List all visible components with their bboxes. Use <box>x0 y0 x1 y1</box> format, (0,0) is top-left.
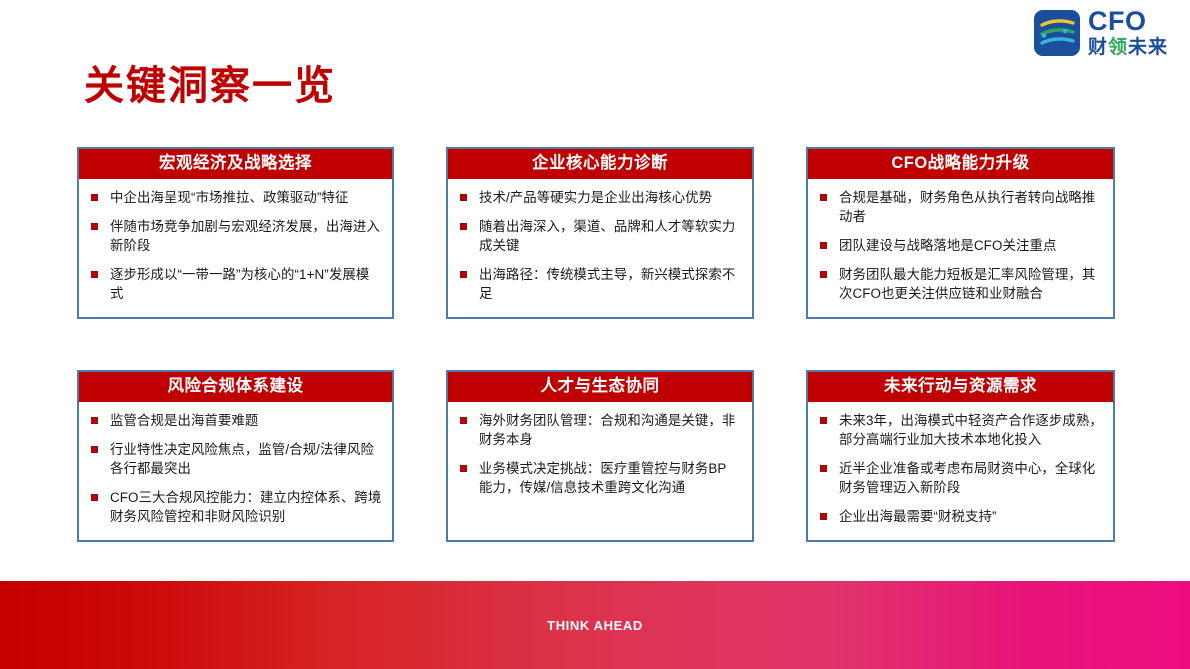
card-title: 宏观经济及战略选择 <box>79 149 392 179</box>
square-bullet-icon <box>460 271 467 278</box>
list-item: CFO三大合规风控能力：建立内控体系、跨境财务风险管控和非财风险识别 <box>88 488 382 526</box>
card-title: 人才与生态协同 <box>448 372 752 402</box>
square-bullet-icon <box>820 242 827 249</box>
square-bullet-icon <box>91 223 98 230</box>
logo-brand-text: CFO <box>1088 8 1168 35</box>
list-item-text: 出海路径：传统模式主导，新兴模式探索不足 <box>479 267 735 301</box>
logo-mark-icon <box>1034 10 1080 56</box>
list-item: 技术/产品等硬实力是企业出海核心优势 <box>457 188 742 207</box>
square-bullet-icon <box>820 465 827 472</box>
bullet-list: 海外财务团队管理：合规和沟通是关键，非财务本身 业务模式决定挑战：医疗重管控与财… <box>457 411 742 497</box>
list-item: 监管合规是出海首要难题 <box>88 411 382 430</box>
list-item: 中企出海呈现“市场推拉、政策驱动”特征 <box>88 188 382 207</box>
list-item-text: 团队建设与战略落地是CFO关注重点 <box>839 238 1056 253</box>
list-item: 财务团队最大能力短板是汇率风险管理，其次CFO也更关注供应链和业财融合 <box>817 265 1103 303</box>
list-item-text: 随着出海深入，渠道、品牌和人才等软实力成关键 <box>479 219 735 253</box>
card-body: 监管合规是出海首要难题 行业特性决定风险焦点，监管/合规/法律风险各行都最突出 … <box>79 402 392 540</box>
list-item: 伴随市场竞争加剧与宏观经济发展，出海进入新阶段 <box>88 217 382 255</box>
list-item-text: 逐步形成以“一带一路”为核心的“1+N”发展模式 <box>110 267 369 301</box>
square-bullet-icon <box>91 417 98 424</box>
card-title: 风险合规体系建设 <box>79 372 392 402</box>
square-bullet-icon <box>820 513 827 520</box>
logo-tagline-part-2: 领 <box>1108 37 1128 58</box>
list-item-text: 中企出海呈现“市场推拉、政策驱动”特征 <box>110 190 348 205</box>
page-title: 关键洞察一览 <box>84 64 336 108</box>
square-bullet-icon <box>820 271 827 278</box>
card-body: 合规是基础，财务角色从执行者转向战略推动者 团队建设与战略落地是CFO关注重点 … <box>808 179 1113 317</box>
square-bullet-icon <box>460 465 467 472</box>
list-item-text: 行业特性决定风险焦点，监管/合规/法律风险各行都最突出 <box>110 442 374 476</box>
list-item: 随着出海深入，渠道、品牌和人才等软实力成关键 <box>457 217 742 255</box>
bullet-list: 监管合规是出海首要难题 行业特性决定风险焦点，监管/合规/法律风险各行都最突出 … <box>88 411 382 526</box>
list-item-text: 未来3年，出海模式中轻资产合作逐步成熟，部分高端行业加大技术本地化投入 <box>839 413 1103 447</box>
card-title: 未来行动与资源需求 <box>808 372 1113 402</box>
insight-card: 风险合规体系建设 监管合规是出海首要难题 行业特性决定风险焦点，监管/合规/法律… <box>77 370 394 542</box>
insight-card: 未来行动与资源需求 未来3年，出海模式中轻资产合作逐步成熟，部分高端行业加大技术… <box>806 370 1115 542</box>
insight-card: 人才与生态协同 海外财务团队管理：合规和沟通是关键，非财务本身 业务模式决定挑战… <box>446 370 754 542</box>
list-item: 企业出海最需要“财税支持” <box>817 507 1103 526</box>
square-bullet-icon <box>460 417 467 424</box>
insight-card: 宏观经济及战略选择 中企出海呈现“市场推拉、政策驱动”特征 伴随市场竞争加剧与宏… <box>77 147 394 319</box>
list-item-text: 合规是基础，财务角色从执行者转向战略推动者 <box>839 190 1095 224</box>
list-item: 行业特性决定风险焦点，监管/合规/法律风险各行都最突出 <box>88 440 382 478</box>
list-item-text: 技术/产品等硬实力是企业出海核心优势 <box>479 190 712 205</box>
square-bullet-icon <box>820 194 827 201</box>
list-item-text: 伴随市场竞争加剧与宏观经济发展，出海进入新阶段 <box>110 219 380 253</box>
insight-card: 企业核心能力诊断 技术/产品等硬实力是企业出海核心优势 随着出海深入，渠道、品牌… <box>446 147 754 319</box>
square-bullet-icon <box>91 271 98 278</box>
list-item-text: 业务模式决定挑战：医疗重管控与财务BP 能力，传媒/信息技术重跨文化沟通 <box>479 461 726 495</box>
square-bullet-icon <box>820 417 827 424</box>
list-item: 业务模式决定挑战：医疗重管控与财务BP 能力，传媒/信息技术重跨文化沟通 <box>457 459 742 497</box>
list-item: 逐步形成以“一带一路”为核心的“1+N”发展模式 <box>88 265 382 303</box>
bullet-list: 技术/产品等硬实力是企业出海核心优势 随着出海深入，渠道、品牌和人才等软实力成关… <box>457 188 742 303</box>
square-bullet-icon <box>91 194 98 201</box>
bullet-list: 未来3年，出海模式中轻资产合作逐步成熟，部分高端行业加大技术本地化投入 近半企业… <box>817 411 1103 526</box>
square-bullet-icon <box>460 223 467 230</box>
logo-tagline-part-1: 财 <box>1088 37 1108 58</box>
list-item-text: 海外财务团队管理：合规和沟通是关键，非财务本身 <box>479 413 735 447</box>
insight-card: CFO战略能力升级 合规是基础，财务角色从执行者转向战略推动者 团队建设与战略落… <box>806 147 1115 319</box>
logo-tagline-part-3: 未来 <box>1128 37 1168 58</box>
square-bullet-icon <box>91 494 98 501</box>
footer-tagline: THINK AHEAD <box>547 618 643 633</box>
list-item-text: 近半企业准备或考虑布局财资中心，全球化财务管理迈入新阶段 <box>839 461 1095 495</box>
square-bullet-icon <box>460 194 467 201</box>
square-bullet-icon <box>91 446 98 453</box>
card-body: 技术/产品等硬实力是企业出海核心优势 随着出海深入，渠道、品牌和人才等软实力成关… <box>448 179 752 317</box>
card-title: CFO战略能力升级 <box>808 149 1113 179</box>
card-title: 企业核心能力诊断 <box>448 149 752 179</box>
list-item: 团队建设与战略落地是CFO关注重点 <box>817 236 1103 255</box>
bullet-list: 中企出海呈现“市场推拉、政策驱动”特征 伴随市场竞争加剧与宏观经济发展，出海进入… <box>88 188 382 303</box>
list-item-text: 监管合规是出海首要难题 <box>110 413 258 428</box>
list-item: 海外财务团队管理：合规和沟通是关键，非财务本身 <box>457 411 742 449</box>
list-item: 出海路径：传统模式主导，新兴模式探索不足 <box>457 265 742 303</box>
card-body: 海外财务团队管理：合规和沟通是关键，非财务本身 业务模式决定挑战：医疗重管控与财… <box>448 402 752 540</box>
card-body: 未来3年，出海模式中轻资产合作逐步成熟，部分高端行业加大技术本地化投入 近半企业… <box>808 402 1113 540</box>
list-item-text: 企业出海最需要“财税支持” <box>839 509 997 524</box>
list-item: 未来3年，出海模式中轻资产合作逐步成熟，部分高端行业加大技术本地化投入 <box>817 411 1103 449</box>
brand-logo: CFO 财领未来 <box>1034 8 1168 57</box>
list-item-text: CFO三大合规风控能力：建立内控体系、跨境财务风险管控和非财风险识别 <box>110 490 381 524</box>
list-item-text: 财务团队最大能力短板是汇率风险管理，其次CFO也更关注供应链和业财融合 <box>839 267 1095 301</box>
logo-tagline: 财领未来 <box>1088 38 1168 57</box>
logo-text: CFO 财领未来 <box>1088 8 1168 57</box>
bullet-list: 合规是基础，财务角色从执行者转向战略推动者 团队建设与战略落地是CFO关注重点 … <box>817 188 1103 303</box>
list-item: 合规是基础，财务角色从执行者转向战略推动者 <box>817 188 1103 226</box>
insight-card-grid: 宏观经济及战略选择 中企出海呈现“市场推拉、政策驱动”特征 伴随市场竞争加剧与宏… <box>77 147 1115 542</box>
slide-footer: THINK AHEAD <box>0 581 1190 669</box>
card-body: 中企出海呈现“市场推拉、政策驱动”特征 伴随市场竞争加剧与宏观经济发展，出海进入… <box>79 179 392 317</box>
list-item: 近半企业准备或考虑布局财资中心，全球化财务管理迈入新阶段 <box>817 459 1103 497</box>
